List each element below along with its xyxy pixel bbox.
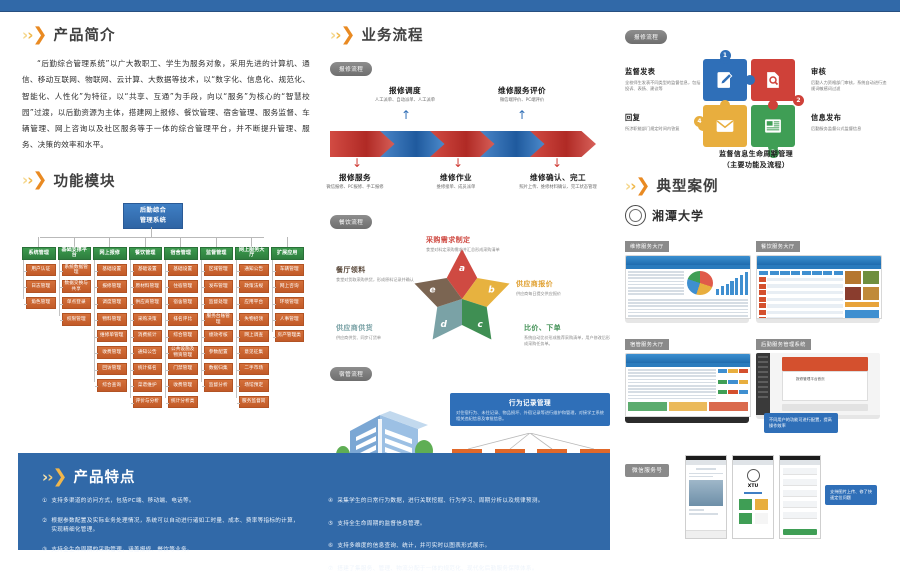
org-connector <box>180 237 181 247</box>
mail-icon <box>715 118 735 134</box>
org-leaf-node[interactable]: 区域管理 <box>204 264 234 277</box>
star-petals-svg: abcde <box>408 243 516 347</box>
feature-text: 根据参数配置及实际业务处理情况，系统可以自动进行诸如工时量、成本、费率等指标的计… <box>51 517 304 535</box>
star-petal-letter: e <box>429 285 435 295</box>
org-leaf-node[interactable]: 监督处理 <box>204 297 234 310</box>
flow-label-sub: 微信报修、PC报修、手工报修 <box>312 185 398 191</box>
org-leaf-node[interactable]: 基础设置 <box>168 264 198 277</box>
org-leaf-node[interactable]: 人事管理 <box>275 313 305 326</box>
flow-label-confirm: 维修确认、完工 照片上传、维修材料确认、完工状态管理 <box>506 172 610 191</box>
up-arrow-icon: ↑ <box>517 109 527 121</box>
star-label-title: 供应商供货 <box>336 323 420 333</box>
org-leaf-node[interactable]: 评价与分析 <box>133 396 163 409</box>
section-heading-intro: ››❯ 产品简介 <box>22 24 310 45</box>
chevron-decor-icon: ››❯ <box>22 26 46 44</box>
star-label-sub: 食堂对料定采购需求并汇总形成采购清单 <box>426 247 538 253</box>
repair-flow-top-labels: 报修调度 人工派单、自动派单、人工派单 维修服务评价 微信端评价、PC端评价 ↑… <box>330 85 616 131</box>
case-tag: 餐饮服务大厅 <box>756 241 800 252</box>
feature-number: ④ <box>328 497 333 506</box>
org-column: 系统管理用户认证日志管理角色管理 <box>22 237 56 413</box>
puzzle-piece-reply <box>703 105 747 147</box>
case-card[interactable]: 宿管服务大厅 <box>625 331 749 439</box>
org-leaf-group: 基础设置报修管理调度管理物料管理维修单管理收费管理回访管理综合查询 <box>93 264 127 392</box>
feature-number: ⑤ <box>328 520 333 529</box>
org-leaf-node[interactable]: 服务监督岗 <box>239 396 269 409</box>
org-leaf-node[interactable]: 意见征集 <box>239 346 269 359</box>
org-leaf-node[interactable]: 消费统计 <box>133 330 163 343</box>
org-leaf-node[interactable]: 排名评比 <box>168 313 198 326</box>
star-petal-letter: b <box>488 285 495 295</box>
feature-number: ③ <box>42 546 47 555</box>
label-sub: 所涉职能部门规定时间内答复 <box>625 126 701 132</box>
supervision-label-review: 审核 后勤人力资格部门审核，系统自动进行违规词敏感词过滤 <box>811 67 887 92</box>
catering-star-diagram: abcde 采购需求制定 食堂对料定采购需求并汇总形成采购清单 供应商报价 供应… <box>330 237 616 359</box>
star-label-sub: 供应商供货、同步订货单 <box>336 335 420 341</box>
label-sub: 后勤人力资格部门审核，系统自动进行违规词敏感词过滤 <box>811 80 887 92</box>
flow-label-report: 报修服务 微信报修、PC报修、手工报修 <box>312 172 398 191</box>
news-icon <box>763 117 783 135</box>
shot-stand <box>756 319 880 323</box>
org-leaf-node[interactable]: 物料管理 <box>97 313 127 326</box>
org-leaf-node[interactable]: 宿舍管理 <box>168 297 198 310</box>
chevron-decor-icon: ››❯ <box>22 171 46 189</box>
org-leaf-node[interactable]: 发布管理 <box>204 280 234 293</box>
feature-number: ② <box>42 517 47 535</box>
org-leaf-group: 基础设置原材料管理供应商管理采购决策消费统计通知公告统计排名菜谱维护评价与分析 <box>129 264 163 409</box>
org-leaf-group: 车辆管理网上咨询环境管理人事管理房产管理类 <box>271 264 305 343</box>
shot-body <box>626 269 750 318</box>
puzzle-piece-publish <box>703 59 747 101</box>
org-chart: 后勤综合 管理系统 系统管理用户认证日志管理角色管理基础支撑平台系统数据管理数据… <box>22 203 310 415</box>
org-head-node[interactable]: 扩展应用 <box>271 247 305 260</box>
label-title: 监督发表 <box>625 67 701 77</box>
shot-header-bar <box>757 256 881 265</box>
star-label-title: 比价、下单 <box>524 323 612 333</box>
features-columns: ①支持多渠道的访问方式，包括PC端、移动端、电话等。②根据参数配置及实际业务处理… <box>42 497 590 587</box>
flow-label-title: 维修确认、完工 <box>506 172 610 183</box>
wechat-service-tag: 微信服务号 <box>625 464 669 477</box>
flow-label-sub: 维修接单、成员派单 <box>413 185 499 191</box>
star-label-sub: 供应商每日提交供应报价 <box>516 291 612 297</box>
search-doc-icon <box>763 70 783 90</box>
behaviour-box-sub: 对住宿行为、未住记录、物品损坏、外宿记录等进行维护和管理，对接学工系统相关违纪信… <box>456 410 604 422</box>
case-tag: 维修服务大厅 <box>625 241 669 252</box>
org-leaf-node[interactable]: 参数配置 <box>204 346 234 359</box>
org-leaf-node[interactable]: 菜谱维护 <box>133 379 163 392</box>
feature-number: ① <box>42 497 47 506</box>
org-leaf-group: 系统数据管理数据交换与共享单点登录权限管理 <box>58 264 92 326</box>
org-leaf-node[interactable]: 统计分析类 <box>168 396 198 409</box>
org-leaf-node[interactable]: 回访管理 <box>97 363 127 376</box>
feature-text: 支持全生命周期的监督信息管理。 <box>337 520 425 529</box>
org-leaf-node[interactable]: 公共设施及物资管理 <box>168 346 198 359</box>
star-label-d: 供应商供货 供应商供货、同步订货单 <box>336 323 420 341</box>
org-leaf-node[interactable]: 基础设置 <box>97 264 127 277</box>
feature-item: ②根据参数配置及实际业务处理情况，系统可以自动进行诸如工时量、成本、费率等指标的… <box>42 517 304 535</box>
repair-flow-tag: 报修流程 <box>330 62 372 76</box>
feature-number: ⑥ <box>328 542 333 551</box>
case-card[interactable]: 餐饮服务大厅 <box>756 233 880 323</box>
puzzle-knob-mid-right <box>745 75 755 85</box>
org-leaf-node[interactable]: 单点登录 <box>62 297 92 310</box>
label-sub: 全校师生发表不同类型的监督信息，包括投诉、表扬、建议等 <box>625 80 701 92</box>
org-leaf-node[interactable]: 基础设置 <box>133 264 163 277</box>
org-leaf-node[interactable]: 失物招领 <box>239 313 269 326</box>
up-arrow-icon: ↑ <box>401 109 411 121</box>
caption-line1: 监督信息生命周期管理 <box>625 149 887 160</box>
org-connector <box>216 237 217 247</box>
features-panel: ››❯ 产品特点 ①支持多渠道的访问方式，包括PC端、移动端、电话等。②根据参数… <box>18 453 610 550</box>
star-label-a: 采购需求制定 食堂对料定采购需求并汇总形成采购清单 <box>426 235 538 253</box>
shot-body <box>757 269 881 318</box>
shot-stand <box>625 417 749 423</box>
puzzle-number-1: 1 <box>720 50 731 61</box>
org-leaf-node[interactable]: 原材料管理 <box>133 280 163 293</box>
org-connector <box>251 237 252 247</box>
chevron-flow-row <box>330 131 616 157</box>
case-screenshots-grid: 维修服务大厅餐饮服务大厅宿管服务大厅后勤服务管理系统报修管理平台首页不同用户的功… <box>625 233 887 439</box>
star-petal-letter: d <box>441 320 448 330</box>
phone-logo-text: XTU <box>748 484 758 489</box>
chevron-decor-icon: ››❯ <box>42 468 66 486</box>
flow-label-work: 维修作业 维修接单、成员派单 <box>413 172 499 191</box>
org-head-node[interactable]: 餐饮管理 <box>129 247 163 260</box>
wechat-section: 微信服务号 XTU <box>625 457 887 477</box>
org-leaf-node[interactable]: 用户认证 <box>26 264 56 277</box>
org-leaf-node[interactable]: 网上调查 <box>239 330 269 343</box>
dorm-flow-tag-row: 宿管流程 <box>330 361 616 381</box>
caption-line2: （主要功能及流程） <box>625 160 887 171</box>
section-heading-cases: ››❯ 典型案例 <box>625 175 887 196</box>
org-leaf-node[interactable]: 政策法规 <box>239 280 269 293</box>
star-label-e: 餐厅领料 食堂对货取采购供货，形成原料记录并确认 <box>336 265 414 283</box>
org-column: 监督管理区域管理发布管理监督处理服务台账管理绩效考核参数配置数据归集监督分析 <box>200 237 234 413</box>
flow-label-sub: 人工派单、自动派单、人工派单 <box>360 98 450 104</box>
label-sub: 后勤服务监督公式监督信息 <box>811 126 887 132</box>
flow-label-title: 报修服务 <box>312 172 398 183</box>
org-leaf-node[interactable]: 日志管理 <box>26 280 56 293</box>
section-heading-modules: ››❯ 功能模块 <box>22 170 310 191</box>
puzzle-knob-bottom-left <box>720 100 730 110</box>
repair-flow-bottom-labels: ↓ ↓ ↓ 报修服务 微信报修、PC报修、手工报修 维修作业 维修接单、成员派单… <box>330 159 616 203</box>
org-leaf-group: 区域管理发布管理监督处理服务台账管理绩效考核参数配置数据归集监督分析 <box>200 264 234 392</box>
edit-icon <box>715 70 735 90</box>
university-seal-icon <box>625 205 646 226</box>
case-screenshot[interactable] <box>625 255 751 319</box>
org-leaf-node[interactable]: 数据归集 <box>204 363 234 376</box>
star-label-c: 比价、下单 系统自动比价形成推荐采购清单，用户修改后形成采购任务单。 <box>524 323 612 346</box>
org-leaf-node[interactable]: 门禁管理 <box>168 363 198 376</box>
org-root-line1: 后勤综合 <box>140 206 166 216</box>
features-left-list: ①支持多渠道的访问方式，包括PC端、移动端、电话等。②根据参数配置及实际业务处理… <box>42 497 304 587</box>
down-arrow-icon: ↓ <box>453 157 463 169</box>
feature-text: 支持多渠道的访问方式，包括PC端、移动端、电话等。 <box>51 497 194 506</box>
feature-item: ⑤支持全生命周期的监督信息管理。 <box>328 520 590 529</box>
org-column: 扩展应用车辆管理网上咨询环境管理人事管理房产管理类 <box>271 237 305 413</box>
case-tag: 宿管服务大厅 <box>625 339 669 350</box>
puzzle-number-2: 2 <box>793 95 804 106</box>
section-heading-process: ››❯ 业务流程 <box>330 24 616 45</box>
flow-label-evaluation: 维修服务评价 微信端评价、PC端评价 <box>472 85 572 104</box>
org-stem <box>151 227 152 237</box>
org-leaf-node[interactable]: 维修单管理 <box>97 330 127 343</box>
org-column: 餐饮管理基础设置原材料管理供应商管理采购决策消费统计通知公告统计排名菜谱维护评价… <box>129 237 163 413</box>
org-leaf-node[interactable]: 统计排名 <box>133 363 163 376</box>
star-label-b: 供应商报价 供应商每日提交供应报价 <box>516 279 612 297</box>
feature-item: ⑦搭建了集服务、管理、物流分配于一体的规范化、现代化后勤服务保障体系。 <box>328 565 590 574</box>
org-leaf-node[interactable]: 角色管理 <box>26 297 56 310</box>
puzzle-piece-publish-info <box>751 105 795 147</box>
star-label-title: 供应商报价 <box>516 279 612 289</box>
chevron-decor-icon: ››❯ <box>625 177 649 195</box>
phone-mockup-article <box>685 455 727 539</box>
phone-mockup-home: XTU <box>732 455 774 539</box>
flow-label-sub: 照片上传、维修材料确认、完工状态管理 <box>506 185 610 191</box>
org-head-node[interactable]: 基础支撑平台 <box>58 247 92 260</box>
supervision-tag-row: 报修流程 <box>625 24 887 44</box>
org-columns: 系统管理用户认证日志管理角色管理基础支撑平台系统数据管理数据交换与共享单点登录权… <box>22 237 310 413</box>
shot-header-bar <box>626 256 750 265</box>
org-connector <box>38 237 39 247</box>
university-name: 湘潭大学 <box>652 207 704 224</box>
case-screenshot[interactable] <box>756 255 882 319</box>
org-root-line2: 管理系统 <box>140 216 166 226</box>
puzzle-piece-review <box>751 59 795 101</box>
case-screenshot[interactable]: 报修管理平台首页 <box>756 353 880 415</box>
org-head-node[interactable]: 网上服务大厅 <box>235 247 269 260</box>
org-column: 基础支撑平台系统数据管理数据交换与共享单点登录权限管理 <box>58 237 92 413</box>
org-leaf-node[interactable]: 收费管理 <box>97 346 127 359</box>
org-leaf-group: 通知公告政策法规应用平台失物招领网上调查意见征集二手市场场馆预定服务监督岗 <box>235 264 269 409</box>
flow-label-dispatch: 报修调度 人工派单、自动派单、人工派单 <box>360 85 450 104</box>
org-leaf-group: 基础设置住宿管理宿舍管理排名评比综合管理公共设施及物资管理门禁管理收费管理统计分… <box>164 264 198 409</box>
supervision-label-info: 信息发布 后勤服务监督公式监督信息 <box>811 113 887 132</box>
org-column: 网上服务大厅通知公告政策法规应用平台失物招领网上调查意见征集二手市场场馆预定服务… <box>235 237 269 413</box>
org-leaf-group: 用户认证日志管理角色管理 <box>22 264 56 310</box>
top-accent-band <box>0 0 900 11</box>
phone-mockup-form <box>779 455 821 539</box>
star-label-title: 采购需求制定 <box>426 235 538 245</box>
wechat-callout-bubble: 支持图片上传、修了快速定位问题 <box>825 485 877 505</box>
page-title: 产品简介 <box>53 24 115 45</box>
section-heading-features: ››❯ 产品特点 <box>42 466 590 487</box>
org-connector <box>287 237 288 247</box>
process-title: 业务流程 <box>361 24 423 45</box>
column-left: ››❯ 产品简介 “后勤综合管理系统”以广大教职工、学生为服务对象，采用先进的计… <box>22 24 310 415</box>
org-leaf-node[interactable]: 房产管理类 <box>275 330 305 343</box>
shot-header-bar <box>626 354 750 363</box>
repair-flow-diagram: 报修调度 人工派单、自动派单、人工派单 维修服务评价 微信端评价、PC端评价 ↑… <box>330 85 616 203</box>
org-leaf-node[interactable]: 场馆预定 <box>239 379 269 392</box>
behaviour-record-box: 行为记录管理 对住宿行为、未住记录、物品损坏、外宿记录等进行维护和管理，对接学工… <box>450 393 610 426</box>
org-leaf-node[interactable]: 综合查询 <box>97 379 127 392</box>
star-petal-letter: a <box>459 264 465 274</box>
org-leaf-node[interactable]: 应用平台 <box>239 297 269 310</box>
org-leaf-node[interactable]: 数据交换与共享 <box>62 280 92 293</box>
modules-title: 功能模块 <box>53 170 115 191</box>
phone-mockups: XTU <box>685 455 821 539</box>
org-column: 宿舍管理基础设置住宿管理宿舍管理排名评比综合管理公共设施及物资管理门禁管理收费管… <box>164 237 198 413</box>
cases-title: 典型案例 <box>656 175 718 196</box>
org-column: 网上报修基础设置报修管理调度管理物料管理维修单管理收费管理回访管理综合查询 <box>93 237 127 413</box>
org-head-node[interactable]: 监督管理 <box>200 247 234 260</box>
org-leaf-node[interactable]: 车辆管理 <box>275 264 305 277</box>
down-arrow-icon: ↓ <box>552 157 562 169</box>
org-leaf-node[interactable]: 环境管理 <box>275 297 305 310</box>
column-middle: ››❯ 业务流程 报修流程 报修调度 人工派单、自动派单、人工派单 维修服务评价… <box>330 24 616 481</box>
org-connector <box>109 237 110 247</box>
down-arrow-icon: ↓ <box>352 157 362 169</box>
org-head-node[interactable]: 宿舍管理 <box>164 247 198 260</box>
dorm-flow-tag: 宿管流程 <box>330 367 372 381</box>
org-leaf-node[interactable]: 综合管理 <box>168 330 198 343</box>
flow-label-title: 报修调度 <box>360 85 450 96</box>
features-title: 产品特点 <box>73 466 135 487</box>
org-head-node[interactable]: 系统管理 <box>22 247 56 260</box>
feature-text: 支持多维度的信息查询、统计，并可实时以图表形式展示。 <box>337 542 490 551</box>
org-leaf-node[interactable]: 收费管理 <box>168 379 198 392</box>
flow-label-sub: 微信端评价、PC端评价 <box>472 98 572 104</box>
puzzle-graphic: 1 2 3 4 <box>703 59 799 151</box>
features-right-list: ④采集学生的日常行为数据，进行关联挖掘、行为学习、周期分析以及规律预测。⑤支持全… <box>328 497 590 587</box>
puzzle-knob-right <box>768 100 778 110</box>
org-connector <box>74 237 75 247</box>
org-leaf-node[interactable]: 服务台账管理 <box>204 313 234 326</box>
behaviour-box-title: 行为记录管理 <box>456 397 604 407</box>
shot-stand <box>625 319 749 323</box>
org-leaf-node[interactable]: 供应商管理 <box>133 297 163 310</box>
org-leaf-node[interactable]: 调度管理 <box>97 297 127 310</box>
label-title: 信息发布 <box>811 113 887 123</box>
shot-body <box>626 367 750 416</box>
supervision-caption: 监督信息生命周期管理 （主要功能及流程） <box>625 149 887 171</box>
supervision-label-publish: 监督发表 全校师生发表不同类型的监督信息，包括投诉、表扬、建议等 <box>625 67 701 92</box>
star-petal-letter: c <box>478 320 484 330</box>
feature-item: ①支持多渠道的访问方式，包括PC端、移动端、电话等。 <box>42 497 304 506</box>
star-label-title: 餐厅领料 <box>336 265 414 275</box>
supervision-label-reply: 回复 所涉职能部门规定时间内答复 <box>625 113 701 132</box>
case-tag: 后勤服务管理系统 <box>756 339 811 350</box>
supervision-flow-tag: 报修流程 <box>625 30 667 44</box>
org-connector <box>145 237 146 247</box>
org-leaf-node[interactable]: 住宿管理 <box>168 280 198 293</box>
supervision-puzzle-diagram: 1 2 3 4 监督发表 全校师生发表不同类型的监督信息，包括投诉、表扬、建议等… <box>625 53 887 169</box>
org-leaf-node[interactable]: 报修管理 <box>97 280 127 293</box>
intro-paragraph: “后勤综合管理系统”以广大教职工、学生为服务对象，采用先进的计算机、通信、移动互… <box>22 56 310 154</box>
flow-label-title: 维修服务评价 <box>472 85 572 96</box>
case-card[interactable]: 维修服务大厅 <box>625 233 749 323</box>
feature-number: ⑦ <box>328 565 333 574</box>
org-leaf-node[interactable]: 采购决策 <box>133 313 163 326</box>
column-right: 报修流程 <box>625 24 887 439</box>
feature-item: ⑥支持多维度的信息查询、统计，并可实时以图表形式展示。 <box>328 542 590 551</box>
org-head-node[interactable]: 网上报修 <box>93 247 127 260</box>
org-leaf-node[interactable]: 权限管理 <box>62 313 92 326</box>
case-screenshot[interactable] <box>625 353 751 417</box>
catering-flow-tag: 餐饮流程 <box>330 215 372 229</box>
org-leaf-node[interactable]: 绩效考核 <box>204 330 234 343</box>
flow-label-title: 维修作业 <box>413 172 499 183</box>
chevron-decor-icon: ››❯ <box>330 26 354 44</box>
star-label-sub: 食堂对货取采购供货，形成原料记录并确认 <box>336 277 414 283</box>
org-leaf-node[interactable]: 通知公告 <box>239 264 269 277</box>
org-leaf-node[interactable]: 网上咨询 <box>275 280 305 293</box>
org-root-node: 后勤综合 管理系统 <box>123 203 183 229</box>
org-leaf-node[interactable]: 系统数据管理 <box>62 264 92 277</box>
feature-item: ③支持全生命周期的采购管理，涵盖报修、餐饮等业务。 <box>42 546 304 555</box>
feature-item: ④采集学生的日常行为数据，进行关联挖掘、行为学习、周期分析以及规律预测。 <box>328 497 590 506</box>
case-callout-bubble: 不同用户的功能可进行配置，提高操作效率 <box>764 413 838 433</box>
catering-flow-tag-row: 餐饮流程 <box>330 209 616 229</box>
label-title: 回复 <box>625 113 701 123</box>
org-leaf-node[interactable]: 监督分析 <box>204 379 234 392</box>
org-leaf-node[interactable]: 通知公告 <box>133 346 163 359</box>
university-logo-row: 湘潭大学 <box>625 205 887 226</box>
label-title: 审核 <box>811 67 887 77</box>
feature-text: 支持全生命周期的采购管理，涵盖报修、餐饮等业务。 <box>51 546 192 555</box>
case-card[interactable]: 后勤服务管理系统报修管理平台首页不同用户的功能可进行配置，提高操作效率 <box>756 331 880 439</box>
feature-text: 搭建了集服务、管理、物流分配于一体的规范化、现代化后勤服务保障体系。 <box>337 565 537 574</box>
repair-flow-tag-row: 报修流程 <box>330 56 616 76</box>
star-label-sub: 系统自动比价形成推荐采购清单，用户修改后形成采购任务单。 <box>524 335 612 346</box>
org-leaf-node[interactable]: 二手市场 <box>239 363 269 376</box>
feature-text: 采集学生的日常行为数据，进行关联挖掘、行为学习、周期分析以及规律预测。 <box>337 497 543 506</box>
